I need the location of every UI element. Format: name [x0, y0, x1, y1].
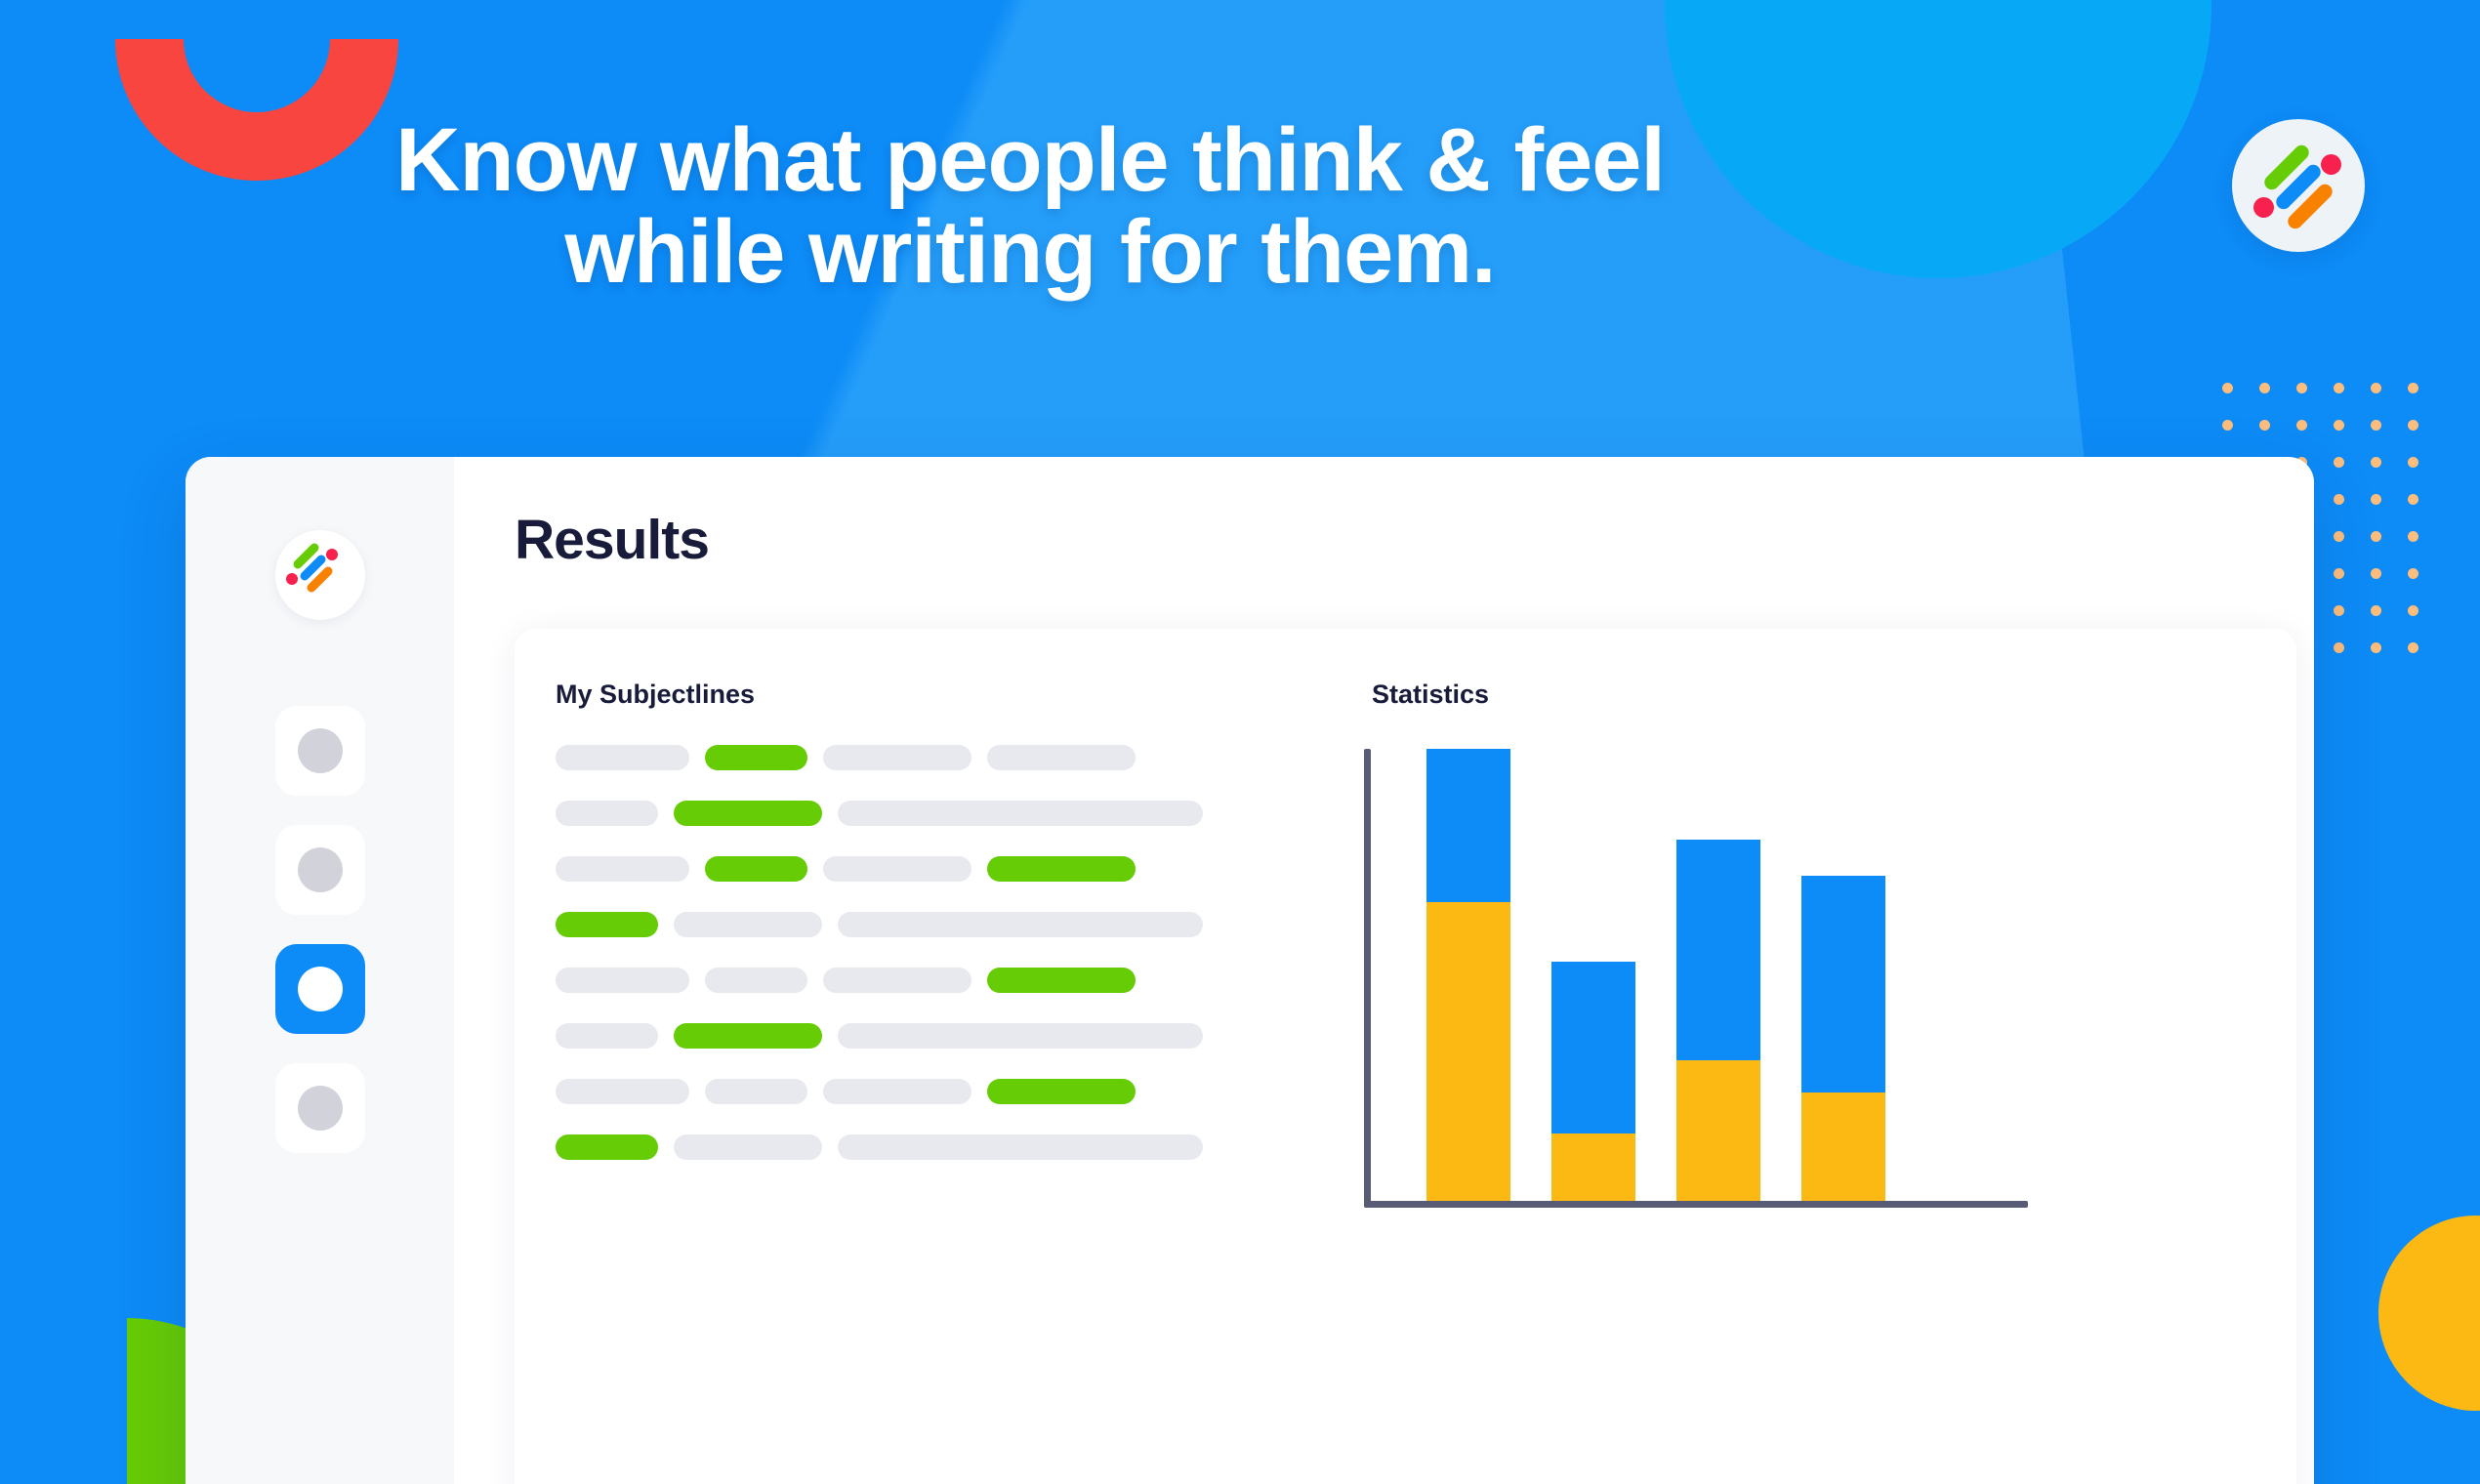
chart-y-axis: [1364, 749, 1371, 1208]
dot-decoration: [2334, 457, 2344, 468]
circle-icon: [298, 1086, 343, 1131]
dot-decoration: [2259, 383, 2270, 393]
subjectline-logo-icon: [275, 530, 365, 620]
app-window: Results My Subjectlines Statistics: [186, 457, 2314, 1484]
subjectline-highlight-bar: [987, 856, 1136, 882]
dot-decoration: [2408, 420, 2418, 431]
subjectline-placeholder-bar: [823, 968, 971, 993]
logo-dot-top-icon: [326, 549, 338, 560]
subjectline-placeholder-bar: [674, 1134, 822, 1160]
subjectline-placeholder-bar: [823, 745, 971, 770]
logo-dot-bottom-icon: [286, 573, 298, 585]
logo-dot-bottom-icon: [2253, 197, 2274, 218]
sidebar-nav-item-4[interactable]: [275, 1063, 365, 1153]
subjectline-placeholder-bar: [556, 1079, 689, 1104]
dot-decoration: [2334, 531, 2344, 542]
subjectline-placeholder-bar: [556, 856, 689, 882]
statistics-bar-chart: [1364, 749, 2028, 1208]
dot-decoration: [2408, 383, 2418, 393]
subjectlines-heading: My Subjectlines: [556, 680, 1264, 710]
sidebar-nav-item-2[interactable]: [275, 825, 365, 915]
dot-decoration: [2371, 605, 2381, 616]
dot-decoration: [2408, 642, 2418, 653]
dot-decoration: [2334, 642, 2344, 653]
subjectline-logo-icon: [2232, 119, 2365, 252]
circle-icon: [298, 967, 343, 1011]
dot-decoration: [2222, 420, 2233, 431]
subjectline-highlight-bar: [674, 1023, 822, 1049]
subjectline-highlight-bar: [987, 968, 1136, 993]
subjectline-placeholder-bar: [987, 745, 1136, 770]
subjectline-placeholder-bar: [838, 801, 1203, 826]
subjectline-placeholder-bar: [838, 1023, 1203, 1049]
subjectline-row[interactable]: [556, 745, 1264, 770]
subjectline-highlight-bar: [705, 856, 807, 882]
dot-decoration: [2371, 642, 2381, 653]
chart-bar-segment-top: [1676, 840, 1760, 1061]
brand-logo-badge: [2232, 119, 2365, 252]
dot-decoration: [2371, 531, 2381, 542]
dot-decoration: [2408, 605, 2418, 616]
chart-bar-segment-bottom: [1676, 1060, 1760, 1201]
subjectline-highlight-bar: [705, 745, 807, 770]
dot-decoration: [2408, 494, 2418, 505]
chart-bar-segment-top: [1426, 749, 1510, 902]
dot-decoration: [2371, 494, 2381, 505]
dot-decoration: [2408, 531, 2418, 542]
subjectline-placeholder-bar: [674, 912, 822, 937]
subjectline-highlight-bar: [987, 1079, 1136, 1104]
orange-circle-decoration: [2378, 1216, 2480, 1411]
subjectline-row[interactable]: [556, 968, 1264, 993]
hero-headline-line-1: Know what people think & feel: [0, 115, 2060, 207]
subjectline-row[interactable]: [556, 912, 1264, 937]
subjectline-placeholder-bar: [823, 856, 971, 882]
chart-x-axis: [1364, 1201, 2028, 1208]
dot-decoration: [2371, 457, 2381, 468]
sidebar-nav-item-3[interactable]: [275, 944, 365, 1034]
dot-decoration: [2334, 494, 2344, 505]
subjectline-row[interactable]: [556, 1134, 1264, 1160]
logo-dot-top-icon: [2321, 154, 2341, 175]
statistics-section: Statistics: [1305, 629, 2296, 1484]
dot-decoration: [2222, 383, 2233, 393]
sidebar-logo[interactable]: [275, 530, 365, 620]
chart-bar-segment-bottom: [1551, 1134, 1635, 1201]
subjectline-placeholder-bar: [705, 968, 807, 993]
chart-bar: [1426, 749, 1510, 1201]
subjectline-placeholder-bar: [556, 1023, 658, 1049]
promo-graphic: Know what people think & feel while writ…: [0, 0, 2480, 1484]
dot-decoration: [2334, 383, 2344, 393]
dot-decoration: [2408, 457, 2418, 468]
results-panel: My Subjectlines Statistics: [515, 629, 2296, 1484]
subjectline-placeholder-bar: [705, 1079, 807, 1104]
sidebar-nav: [275, 706, 365, 1182]
dot-decoration: [2296, 383, 2307, 393]
subjectline-row[interactable]: [556, 1023, 1264, 1049]
subjectline-placeholder-bar: [838, 912, 1203, 937]
dot-decoration: [2259, 420, 2270, 431]
sidebar: [186, 457, 454, 1484]
dot-decoration: [2371, 568, 2381, 579]
page-title: Results: [515, 508, 2314, 572]
dot-decoration: [2408, 568, 2418, 579]
chart-plot-area: [1371, 749, 2028, 1201]
statistics-heading: Statistics: [1372, 680, 2255, 710]
subjectline-row[interactable]: [556, 856, 1264, 882]
chart-bar-segment-bottom: [1801, 1092, 1885, 1201]
chart-bar: [1676, 840, 1760, 1201]
dot-decoration: [2334, 605, 2344, 616]
circle-icon: [298, 728, 343, 773]
sidebar-nav-item-1[interactable]: [275, 706, 365, 796]
subjectline-placeholder-bar: [556, 745, 689, 770]
chart-bar-segment-bottom: [1426, 902, 1510, 1201]
subjectline-row[interactable]: [556, 1079, 1264, 1104]
circle-icon: [298, 847, 343, 892]
chart-bar-segment-top: [1551, 962, 1635, 1134]
subjectline-placeholder-bar: [556, 968, 689, 993]
dot-decoration: [2334, 420, 2344, 431]
subjectline-row[interactable]: [556, 801, 1264, 826]
chart-bar: [1551, 962, 1635, 1201]
chart-bar: [1801, 876, 1885, 1201]
dot-decoration: [2296, 420, 2307, 431]
chart-bar-segment-top: [1801, 876, 1885, 1092]
subjectline-highlight-bar: [674, 801, 822, 826]
hero-headline-line-2: while writing for them.: [0, 207, 2060, 299]
subjectline-highlight-bar: [556, 1134, 658, 1160]
subjectline-placeholder-bar: [556, 801, 658, 826]
dot-decoration: [2334, 568, 2344, 579]
main-content: Results My Subjectlines Statistics: [454, 457, 2314, 1484]
subjectlines-section: My Subjectlines: [515, 629, 1305, 1484]
subjectline-placeholder-bar: [823, 1079, 971, 1104]
subjectline-highlight-bar: [556, 912, 658, 937]
subjectlines-list: [556, 745, 1264, 1160]
subjectline-placeholder-bar: [838, 1134, 1203, 1160]
dot-decoration: [2371, 383, 2381, 393]
hero-headline: Know what people think & feel while writ…: [0, 115, 2060, 299]
dot-decoration: [2371, 420, 2381, 431]
